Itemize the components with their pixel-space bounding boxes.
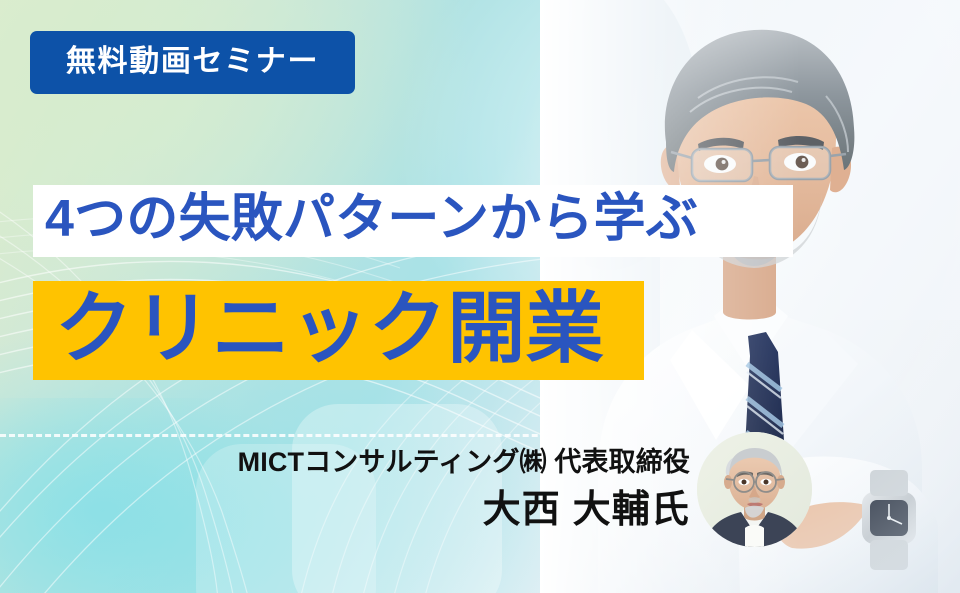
badge-label: 無料動画セミナー (66, 47, 319, 77)
free-seminar-badge: 無料動画セミナー (30, 31, 355, 94)
presenter-block: MICTコンサルティング㈱ 代表取締役 大西 大輔氏 (0, 448, 690, 531)
headline-band-primary: 4つの失敗パターンから学ぶ (33, 185, 793, 257)
presenter-name: 大西 大輔氏 (0, 490, 690, 532)
headline-band-highlight: クリニック開業 (33, 281, 644, 380)
headline-line-1: 4つの失敗パターンから学ぶ (33, 193, 698, 245)
seminar-banner: 無料動画セミナー 4つの失敗パターンから学ぶ クリニック開業 MICTコンサルテ… (0, 0, 960, 593)
presenter-avatar (697, 432, 812, 547)
headline-line-2: クリニック開業 (33, 289, 604, 367)
presenter-company-title: MICTコンサルティング㈱ 代表取締役 (0, 448, 690, 478)
